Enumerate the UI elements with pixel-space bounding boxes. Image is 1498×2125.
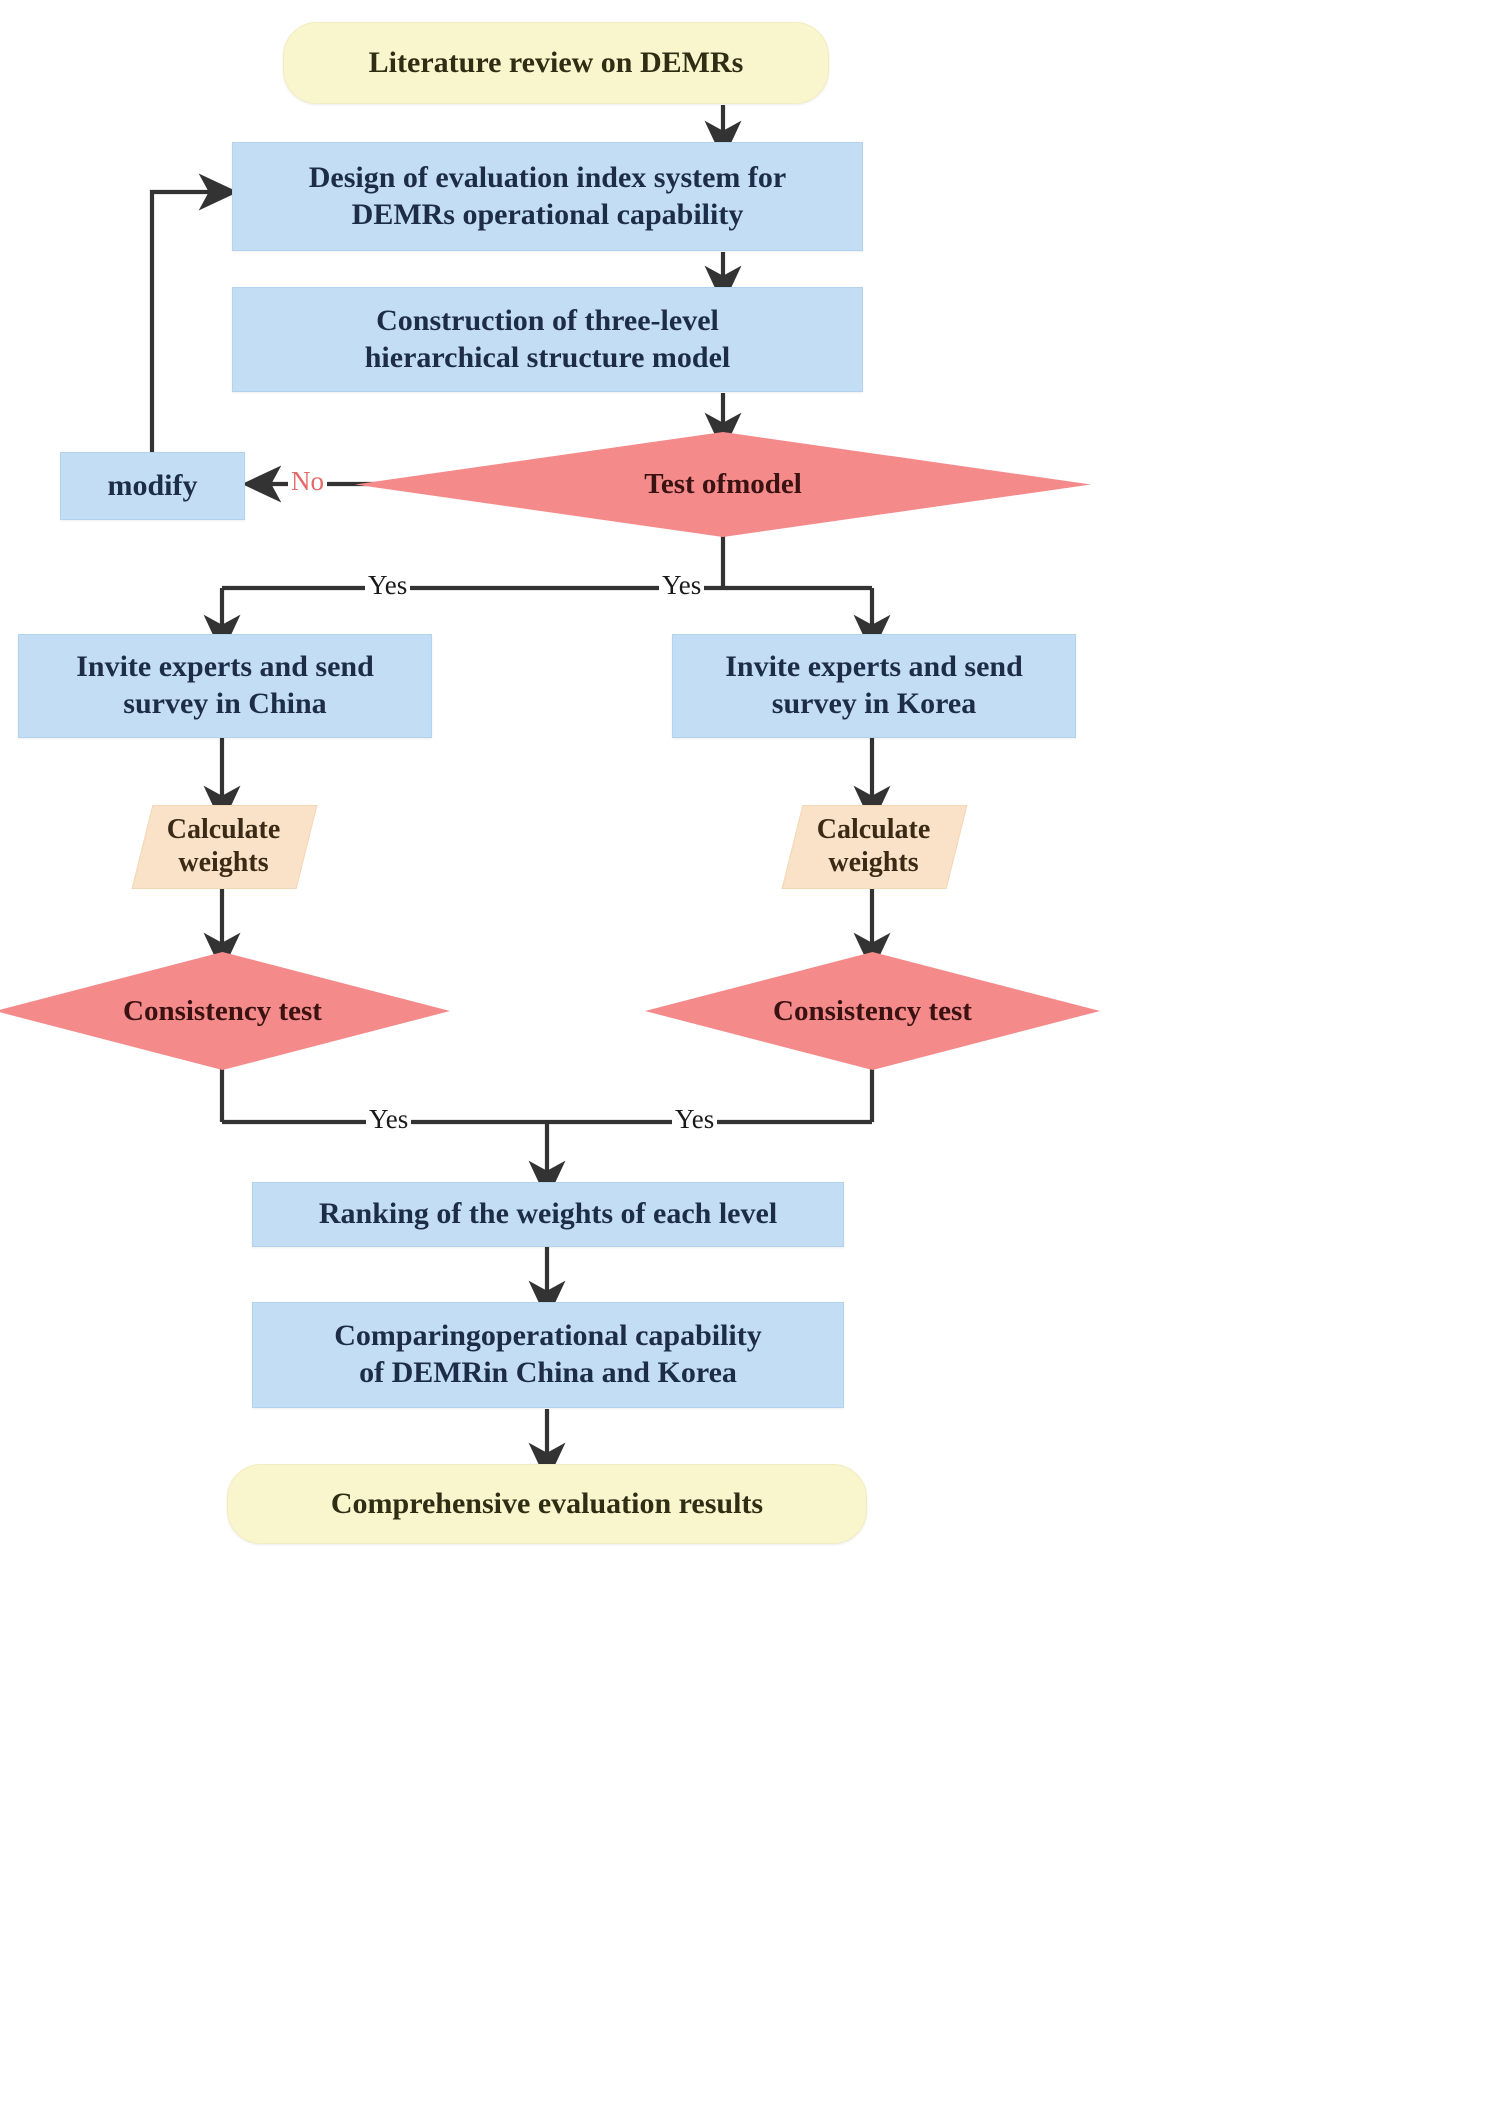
edge-label-yes-korea: Yes [659, 572, 704, 599]
edge-label-yes-consistency-korea: Yes [672, 1106, 717, 1133]
node-calculate-weights-china[interactable]: Calculate weights [142, 805, 305, 887]
node-label: Test ofmodel [355, 432, 1091, 537]
node-consistency-test-korea[interactable]: Consistency test [645, 952, 1100, 1070]
node-label-line1: Calculate [817, 813, 931, 846]
edge-modify-to-design [152, 192, 218, 452]
node-label-line1: Comparingoperational capability [334, 1318, 762, 1355]
node-label-line1: Construction of three-level [376, 303, 719, 340]
node-label-line1: Invite experts and send [725, 649, 1023, 686]
node-label: Comprehensive evaluation results [331, 1486, 763, 1523]
node-label: Literature review on DEMRs [369, 45, 744, 82]
node-label-line1: Design of evaluation index system for [309, 160, 786, 197]
node-design-index-system[interactable]: Design of evaluation index system for DE… [232, 142, 863, 251]
node-calculate-weights-korea[interactable]: Calculate weights [792, 805, 955, 887]
node-consistency-test-china[interactable]: Consistency test [0, 952, 450, 1070]
node-label: modify [108, 468, 198, 505]
node-modify[interactable]: modify [60, 452, 245, 520]
node-label-line1: Calculate [167, 813, 281, 846]
node-label-line2: weights [178, 846, 268, 879]
node-evaluation-results[interactable]: Comprehensive evaluation results [227, 1464, 867, 1544]
edge-label-yes-consistency-china: Yes [366, 1106, 411, 1133]
node-label-line2: DEMRs operational capability [352, 197, 744, 234]
node-survey-china[interactable]: Invite experts and send survey in China [18, 634, 432, 738]
node-label-line2: of DEMRin China and Korea [359, 1355, 737, 1392]
node-label-line1: Invite experts and send [76, 649, 374, 686]
node-label: Consistency test [0, 952, 450, 1070]
node-survey-korea[interactable]: Invite experts and send survey in Korea [672, 634, 1076, 738]
edge-label-yes-china: Yes [365, 572, 410, 599]
node-label-line2: survey in Korea [772, 686, 976, 723]
node-label: Consistency test [645, 952, 1100, 1070]
node-test-of-model[interactable]: Test ofmodel [355, 432, 1091, 537]
edge-label-no: No [288, 468, 327, 495]
node-label: Calculate weights [792, 805, 955, 887]
node-label-line2: weights [828, 846, 918, 879]
node-construct-hierarchy[interactable]: Construction of three-level hierarchical… [232, 287, 863, 392]
node-label-line2: survey in China [123, 686, 326, 723]
node-label-line2: hierarchical structure model [365, 340, 730, 377]
node-literature-review[interactable]: Literature review on DEMRs [283, 22, 829, 104]
node-label: Calculate weights [142, 805, 305, 887]
node-label: Ranking of the weights of each level [319, 1196, 777, 1233]
node-comparing-capability[interactable]: Comparingoperational capability of DEMRi… [252, 1302, 844, 1408]
node-ranking-weights[interactable]: Ranking of the weights of each level [252, 1182, 844, 1247]
flowchart-canvas: Literature review on DEMRs Design of eva… [0, 0, 1498, 2125]
